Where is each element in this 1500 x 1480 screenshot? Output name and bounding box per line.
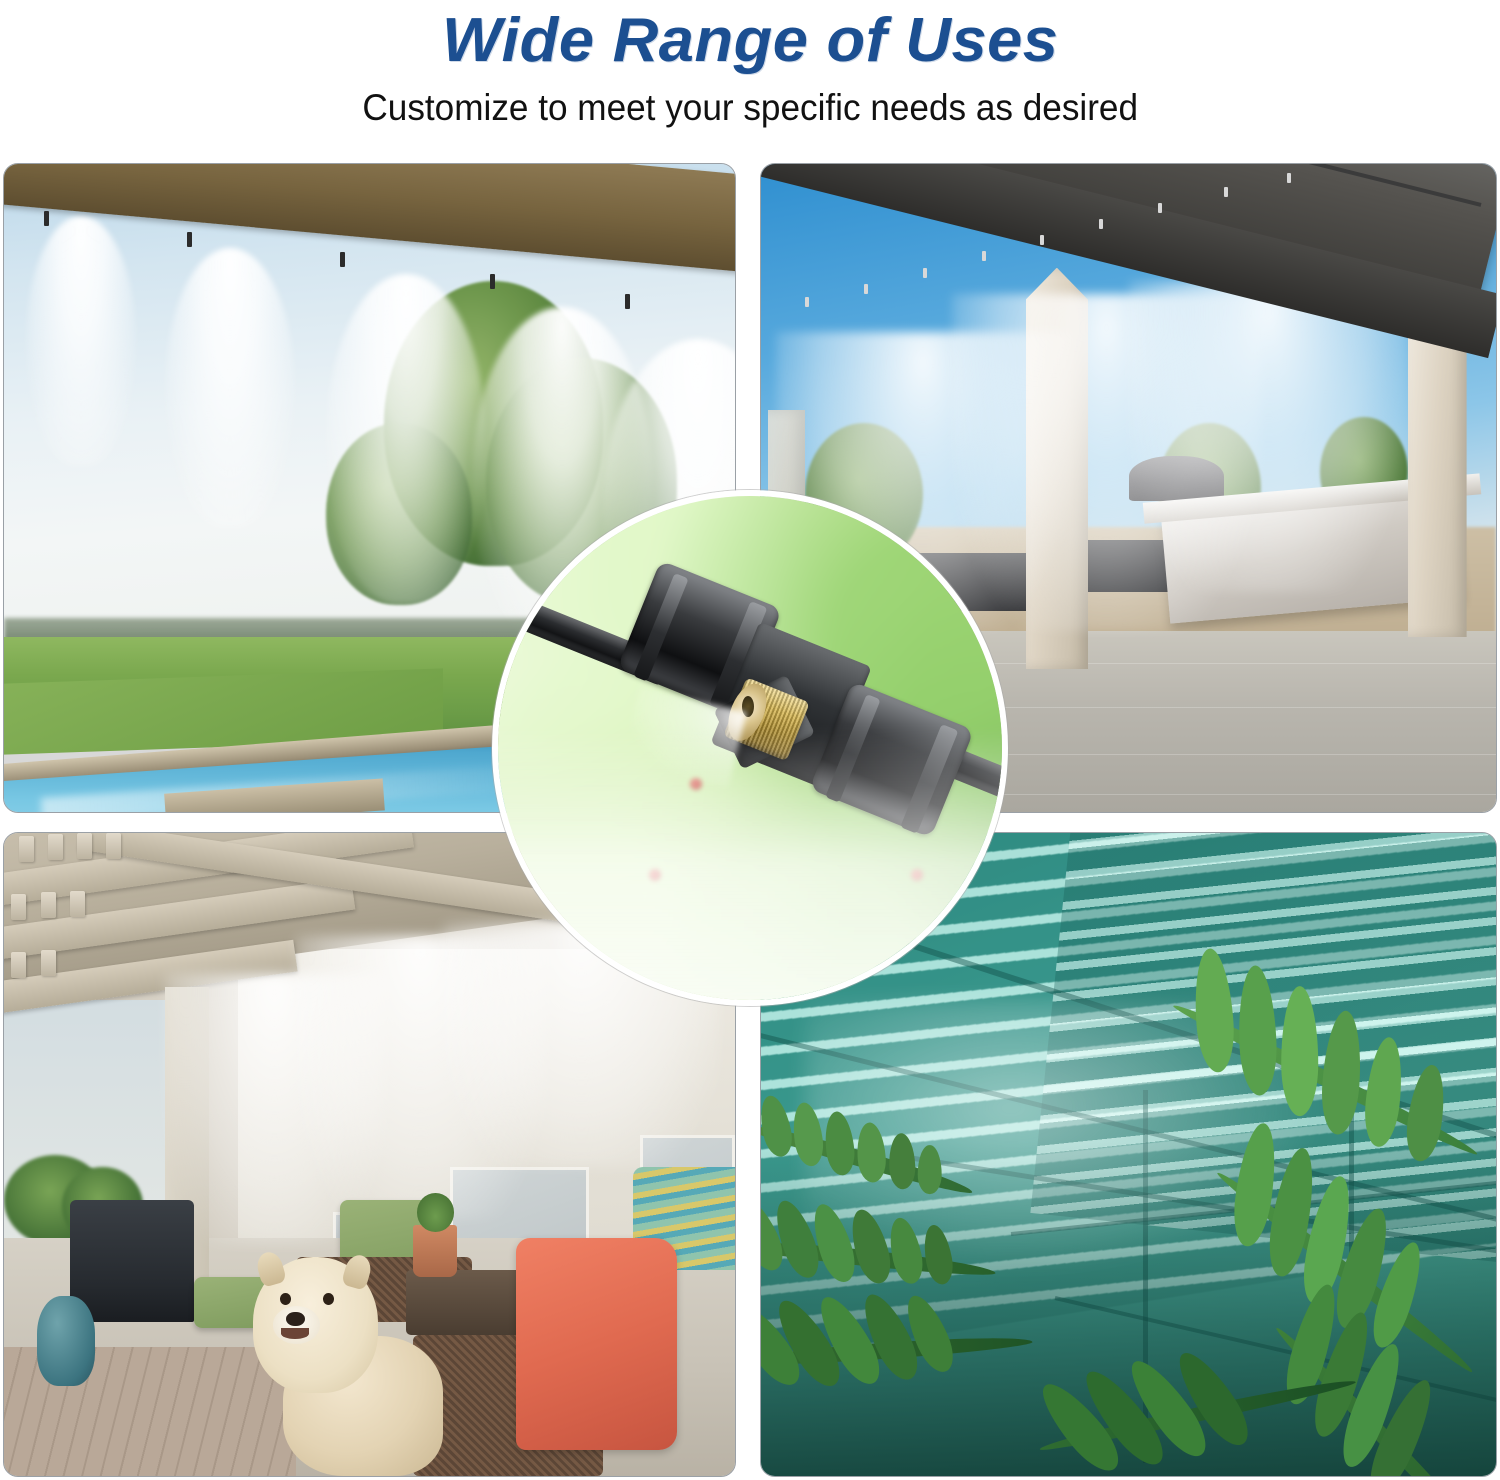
potted-plant — [417, 1193, 454, 1232]
mist-nozzle — [982, 251, 986, 261]
bbq-grill — [70, 1200, 194, 1322]
mist-nozzle — [864, 284, 868, 294]
dog-ear — [341, 1252, 374, 1290]
dog-eye — [280, 1293, 291, 1305]
mist-nozzle — [625, 294, 630, 309]
fern-frond — [760, 1276, 1037, 1425]
dog-mouth — [281, 1328, 309, 1339]
rafter-tail — [77, 833, 92, 859]
rafter-tail — [48, 834, 63, 860]
mist-spray — [165, 248, 295, 528]
rafter-tail — [41, 892, 56, 918]
coral-pillow — [516, 1238, 677, 1450]
mist-spray — [326, 274, 486, 604]
mist-nozzle — [340, 252, 345, 267]
mist-nozzle — [1287, 173, 1291, 183]
mist-spray — [26, 216, 136, 466]
page-title: Wide Range of Uses — [442, 4, 1059, 78]
terrier-dog — [253, 1257, 443, 1476]
mist-nozzle — [1224, 187, 1228, 197]
misting-nozzle-closeup-inset[interactable] — [492, 490, 1008, 1006]
rafter-tail — [106, 833, 121, 859]
mist-nozzle — [187, 232, 192, 247]
blue-ceramic-vase — [37, 1296, 95, 1386]
mist-nozzle — [805, 297, 809, 307]
rafter-tail — [11, 894, 26, 920]
mist-veil — [492, 728, 1008, 1006]
rafter-tail — [11, 952, 26, 978]
mist-nozzle — [1158, 203, 1162, 213]
rafter-tail — [70, 891, 85, 917]
mist-nozzle — [1099, 219, 1103, 229]
rafter-tail — [41, 950, 56, 976]
dog-head — [253, 1257, 378, 1393]
page-subtitle: Customize to meet your specific needs as… — [362, 86, 1138, 130]
dog-eye — [323, 1293, 334, 1305]
mist-nozzle — [1040, 235, 1044, 245]
mist-nozzle — [44, 211, 49, 226]
mist-nozzle — [923, 268, 927, 278]
stucco-column — [1408, 300, 1467, 637]
mist-nozzle — [490, 274, 495, 289]
rafter-tail — [19, 836, 34, 862]
header: Wide Range of Uses Customize to meet you… — [0, 0, 1500, 150]
